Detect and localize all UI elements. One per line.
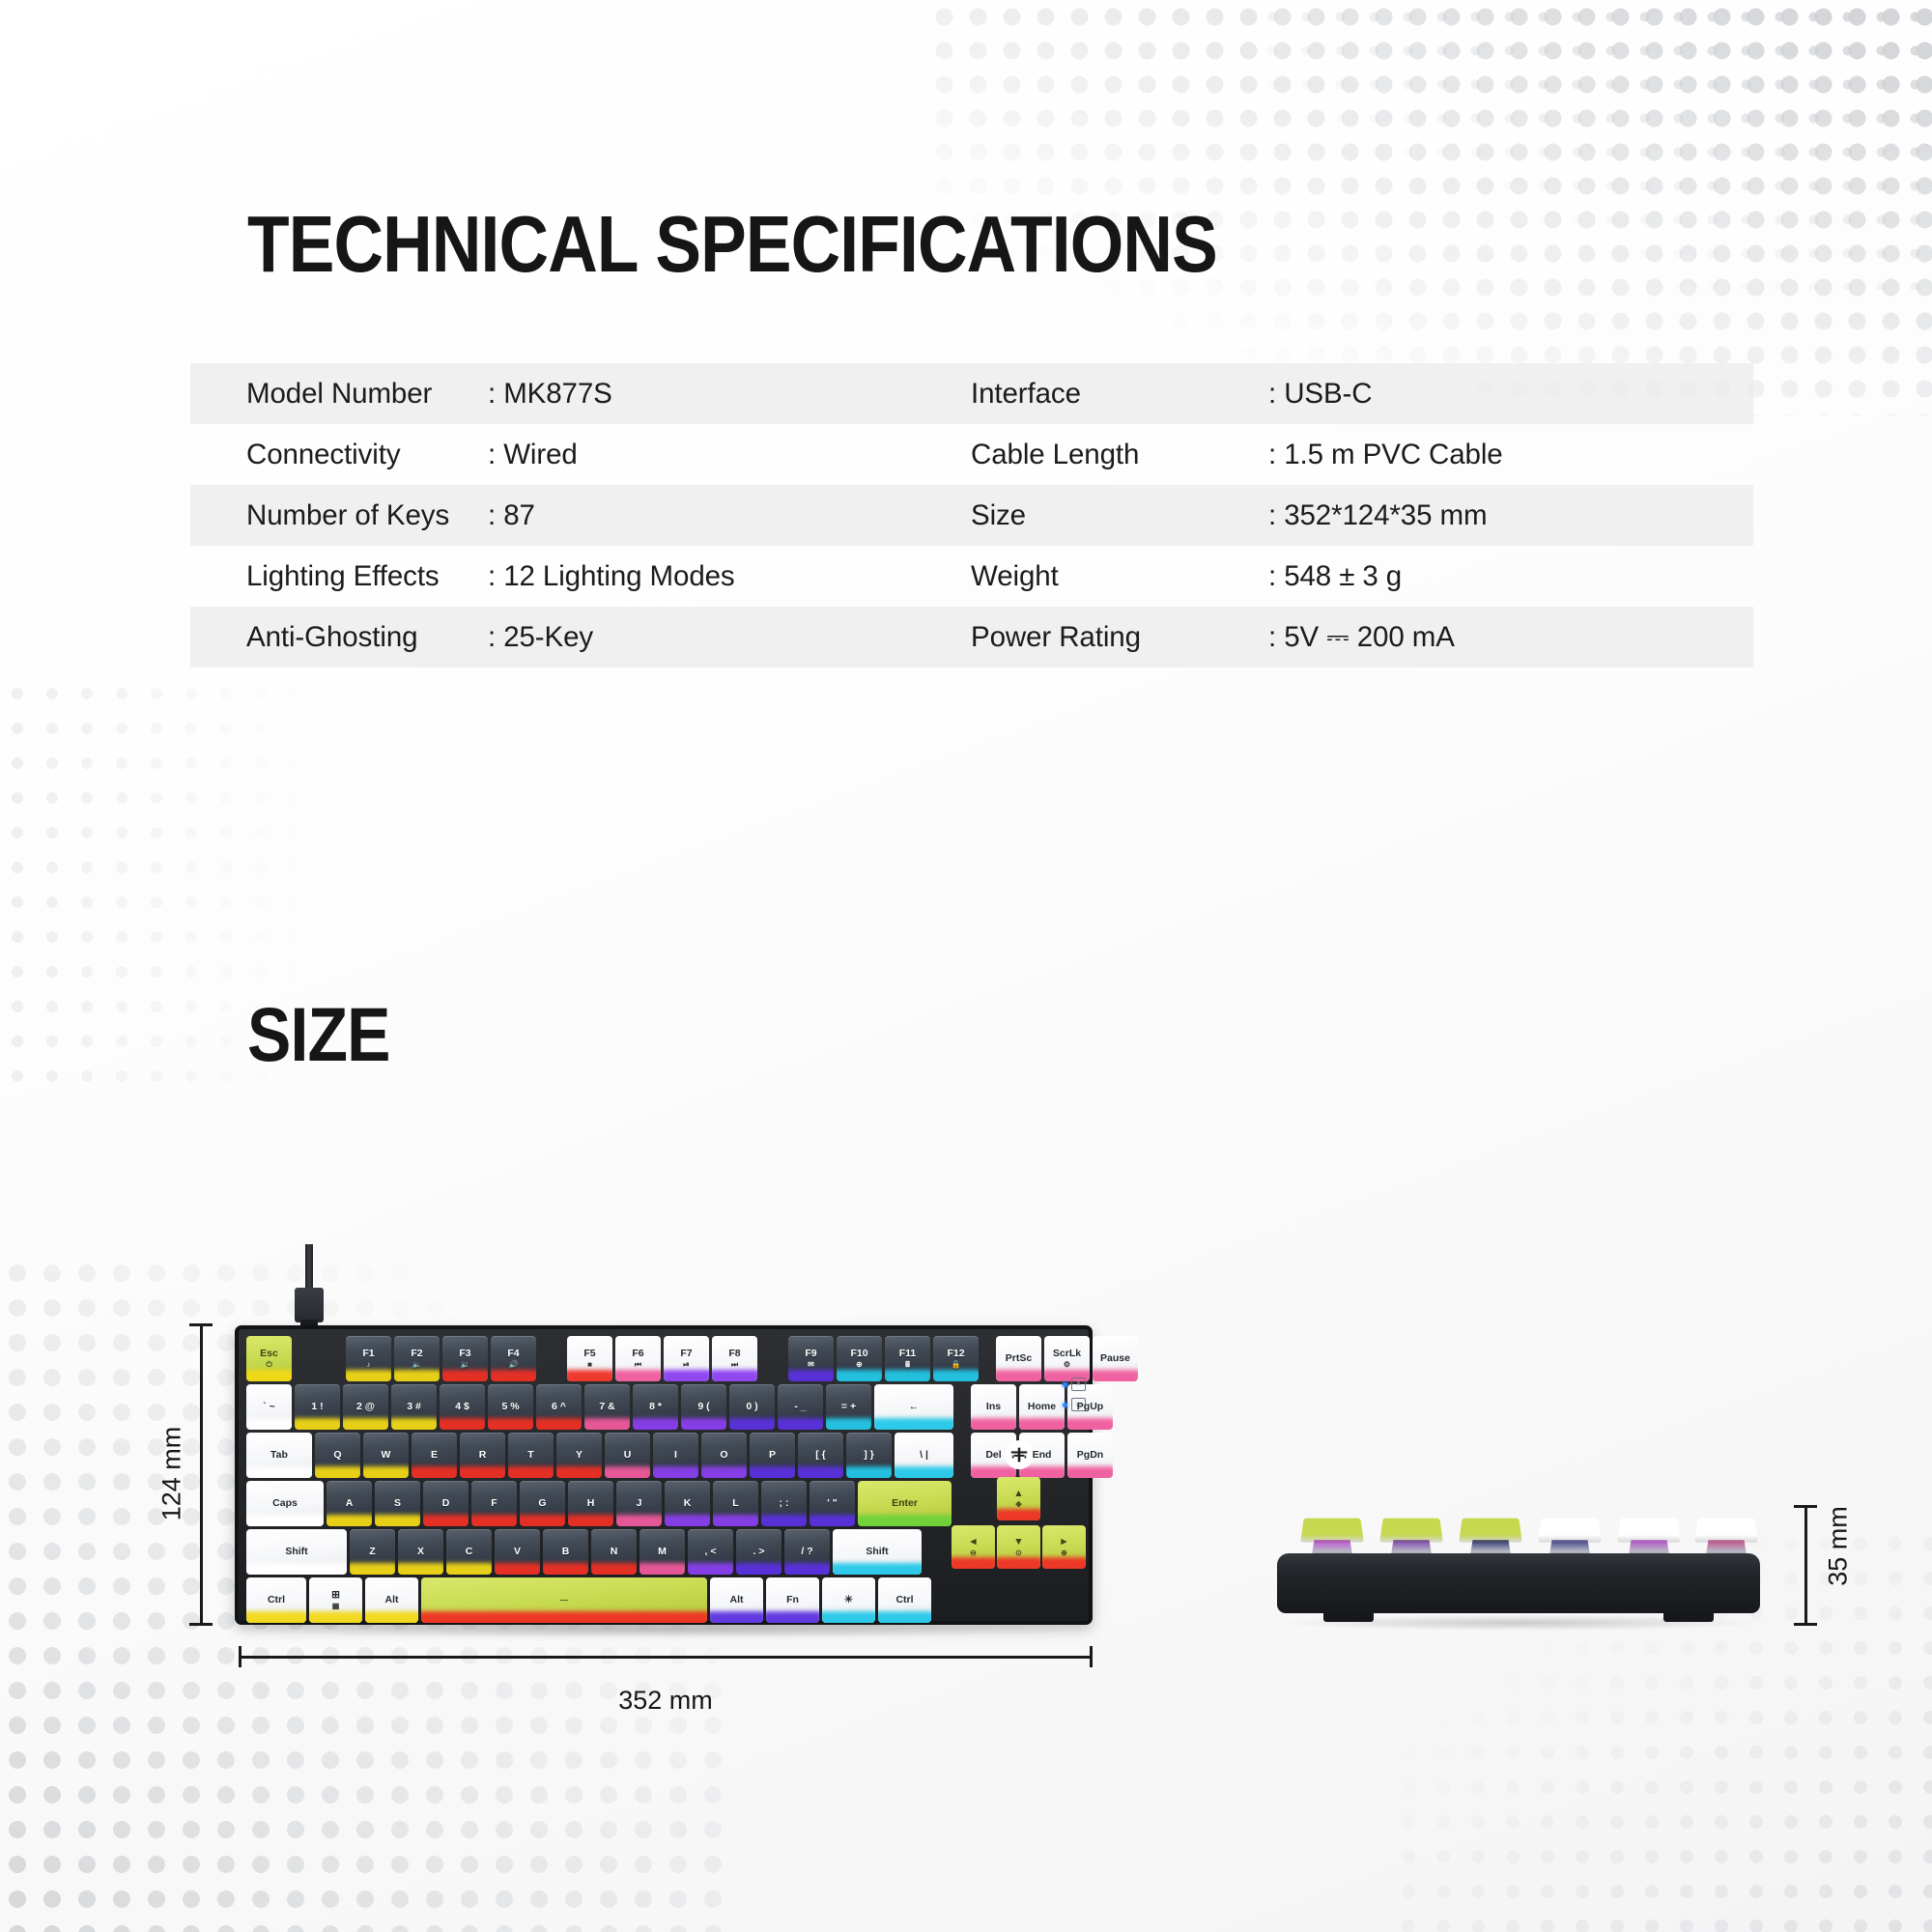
key-rgb-glow — [874, 1418, 953, 1430]
key-rgb-glow — [543, 1563, 588, 1575]
key-rgb-glow — [688, 1563, 733, 1575]
spec-value-left: : 12 Lighting Modes — [488, 560, 971, 593]
key-rgb-glow — [997, 1509, 1040, 1520]
spec-row: Anti-Ghosting: 25-KeyPower Rating: 5V ⎓ … — [190, 607, 1753, 668]
key-f12[interactable]: F12🔒 — [933, 1336, 979, 1381]
key-pause[interactable]: Pause — [1093, 1336, 1138, 1381]
keyboard-row-bottom-row: Ctrl⊞▦Alt—AltFn☀Ctrl — [246, 1577, 1081, 1623]
key-home[interactable]: Home — [1019, 1384, 1065, 1430]
key-legend: F — [491, 1497, 497, 1509]
key-o[interactable]: O — [701, 1433, 747, 1478]
key-primary-legend: Pause — [1100, 1352, 1130, 1364]
key-primary-legend: R — [479, 1449, 487, 1461]
spec-label-right: Cable Length — [971, 439, 1268, 471]
key-primary-legend: V — [514, 1546, 521, 1557]
caps-lock-led-dot — [1063, 1382, 1067, 1387]
key-blank[interactable]: — — [421, 1577, 707, 1623]
key-primary-legend: End — [1033, 1449, 1052, 1461]
key-rgb-glow — [446, 1563, 492, 1575]
key-primary-legend: F9 — [805, 1348, 816, 1359]
key-primary-legend: K — [684, 1497, 692, 1509]
key-f5[interactable]: F5■ — [567, 1336, 612, 1381]
key-rgb-glow — [664, 1370, 709, 1381]
key-legend: F8⏭ — [728, 1348, 740, 1369]
key-primary-legend: 5 % — [501, 1401, 519, 1412]
spec-value-right-text: : 1.5 m PVC Cable — [1268, 439, 1503, 471]
key-primary-legend: W — [382, 1449, 391, 1461]
key-legend: F2🔈 — [411, 1348, 422, 1369]
key-primary-legend: [ { — [815, 1449, 826, 1461]
spec-value-left-text: : MK877S — [488, 378, 612, 411]
key-primary-legend: PrtSc — [1006, 1352, 1032, 1364]
key-legend: Ins — [986, 1401, 1001, 1412]
arrow-key-cluster: ▲✥◄⊖▼⊙►⊕ — [957, 1477, 1081, 1574]
key-secondary-legend: ⊕ — [856, 1360, 863, 1369]
key-rgb-glow — [491, 1370, 536, 1381]
key-legend: End — [1033, 1449, 1052, 1461]
key-g[interactable]: G — [520, 1481, 565, 1526]
key-rgb-glow — [665, 1515, 710, 1526]
key-rgb-glow — [858, 1515, 952, 1526]
key-rgb-glow — [488, 1418, 533, 1430]
key-blank[interactable]: ] } — [846, 1433, 892, 1478]
key-f[interactable]: F — [471, 1481, 517, 1526]
key-rgb-glow — [423, 1515, 469, 1526]
key-shift[interactable]: Shift — [246, 1529, 347, 1575]
spec-label-left: Number of Keys — [190, 499, 488, 532]
key-primary-legend: F1 — [362, 1348, 374, 1359]
key-b[interactable]: B — [543, 1529, 588, 1575]
key-legend: Home — [1028, 1401, 1056, 1412]
key-rgb-glow — [750, 1466, 795, 1478]
key-legend: 1 ! — [311, 1401, 323, 1412]
key-rgb-glow — [246, 1418, 292, 1430]
key-legend: Alt — [730, 1594, 744, 1605]
key-legend: ►⊕ — [1059, 1536, 1068, 1557]
key-rgb-glow — [713, 1515, 758, 1526]
key-primary-legend: ScrLk — [1053, 1348, 1081, 1359]
key-primary-legend: F5 — [583, 1348, 595, 1359]
key-primary-legend: 3 # — [407, 1401, 421, 1412]
key-secondary-legend: 🔈 — [412, 1360, 422, 1369]
key-t[interactable]: T — [508, 1433, 554, 1478]
key-rgb-glow — [246, 1370, 292, 1381]
key-z[interactable]: Z — [350, 1529, 395, 1575]
key-rgb-glow — [394, 1370, 440, 1381]
key-alt[interactable]: Alt — [710, 1577, 763, 1623]
key-4[interactable]: 4 $ — [440, 1384, 485, 1430]
key-blank[interactable]: . > — [736, 1529, 781, 1575]
key-f1[interactable]: F1♪ — [346, 1336, 391, 1381]
key-legend: ☀ — [844, 1594, 853, 1605]
key-rgb-glow — [997, 1557, 1040, 1569]
key-blank[interactable]: ☀ — [822, 1577, 875, 1623]
key-legend: Ctrl — [895, 1594, 913, 1605]
key-legend: Shift — [285, 1546, 307, 1557]
key-rgb-glow — [460, 1466, 505, 1478]
keyboard-logo-arrow-panel: ▲✥◄⊖▼⊙►⊕ — [957, 1435, 1081, 1618]
key-5[interactable]: 5 % — [488, 1384, 533, 1430]
key-legend: R — [479, 1449, 487, 1461]
spec-label-right-text: Interface — [971, 378, 1081, 411]
key-blank[interactable]: / ? — [784, 1529, 830, 1575]
key-6[interactable]: 6 ^ — [536, 1384, 582, 1430]
key-scrlk[interactable]: ScrLk⚙ — [1044, 1336, 1090, 1381]
key-rgb-glow — [633, 1418, 678, 1430]
key-primary-legend: C — [466, 1546, 473, 1557]
key-secondary-legend: ⏭ — [731, 1360, 738, 1369]
spec-value-left: : MK877S — [488, 378, 971, 411]
spec-value-right-text: : 352*124*35 mm — [1268, 499, 1487, 532]
key-rgb-glow — [798, 1466, 843, 1478]
key-rgb-glow — [822, 1611, 875, 1623]
key-rgb-glow — [653, 1466, 698, 1478]
key-secondary-legend: ⊖ — [970, 1548, 977, 1557]
key-primary-legend: F8 — [728, 1348, 740, 1359]
spec-label-right-text: Size — [971, 499, 1026, 532]
key-7[interactable]: 7 & — [584, 1384, 630, 1430]
key-p[interactable]: P — [750, 1433, 795, 1478]
key-e[interactable]: E — [412, 1433, 457, 1478]
key-legend: Fn — [786, 1594, 799, 1605]
spec-label-left-text: Lighting Effects — [246, 560, 440, 593]
key-ctrl[interactable]: Ctrl — [878, 1577, 931, 1623]
key-rgb-glow — [712, 1370, 757, 1381]
key-primary-legend: Alt — [730, 1594, 744, 1605]
spec-label-left-text: Model Number — [246, 378, 432, 411]
key-0[interactable]: 0 ) — [729, 1384, 775, 1430]
key-secondary-legend: ▦ — [332, 1602, 340, 1610]
keyboard-gap — [956, 1384, 968, 1430]
spec-value-right: : USB-C — [1268, 378, 1674, 411]
spec-value-left: : 25-Key — [488, 621, 971, 654]
key-rgb-glow — [246, 1515, 324, 1526]
key-legend: Z — [369, 1546, 375, 1557]
key-legend: F7⏯ — [680, 1348, 692, 1369]
key-f8[interactable]: F8⏭ — [712, 1336, 757, 1381]
key-legend: I — [674, 1449, 677, 1461]
height-dimension-line — [200, 1323, 203, 1625]
key-primary-legend: \ | — [920, 1449, 928, 1461]
key-primary-legend: = + — [841, 1401, 856, 1412]
key-rgb-glow — [315, 1466, 360, 1478]
key-blank[interactable]: ' " — [810, 1481, 855, 1526]
side-view-keycap — [1302, 1517, 1362, 1555]
key-arrow-down[interactable]: ▼⊙ — [997, 1525, 1040, 1569]
spec-label-left: Model Number — [190, 378, 488, 411]
key-h[interactable]: H — [568, 1481, 613, 1526]
key-rgb-glow — [1093, 1370, 1138, 1381]
key-f7[interactable]: F7⏯ — [664, 1336, 709, 1381]
key-c[interactable]: C — [446, 1529, 492, 1575]
key-rgb-glow — [327, 1515, 372, 1526]
key-n[interactable]: N — [591, 1529, 637, 1575]
key-rgb-glow — [788, 1370, 834, 1381]
key-primary-legend: F2 — [411, 1348, 422, 1359]
key-primary-legend: F3 — [459, 1348, 470, 1359]
key-3[interactable]: 3 # — [391, 1384, 437, 1430]
key-blank[interactable]: ⊞▦ — [309, 1577, 362, 1623]
fantech-logo-icon — [1005, 1440, 1034, 1469]
key-j[interactable]: J — [616, 1481, 662, 1526]
key-primary-legend: 1 ! — [311, 1401, 323, 1412]
key-blank[interactable]: - _ — [778, 1384, 823, 1430]
key-primary-legend: - _ — [794, 1401, 806, 1412]
section-title-size: SIZE — [247, 990, 390, 1079]
key-d[interactable]: D — [423, 1481, 469, 1526]
key-legend: [ { — [815, 1449, 826, 1461]
side-view-keycap-top — [1694, 1519, 1758, 1543]
key-m[interactable]: M — [639, 1529, 685, 1575]
spec-row: Model Number: MK877SInterface: USB-C — [190, 363, 1753, 424]
key-tab[interactable]: Tab — [246, 1433, 312, 1478]
page-title-technical-specifications: TECHNICAL SPECIFICATIONS — [247, 198, 1217, 291]
key-rgb-glow — [810, 1515, 855, 1526]
keyboard-row-number-row: ` ~1 !2 @3 #4 $5 %6 ^7 &8 *9 (0 )- _= +←… — [246, 1384, 1081, 1430]
side-view-keycap — [1619, 1517, 1679, 1555]
key-ins[interactable]: Ins — [971, 1384, 1016, 1430]
key-secondary-legend: 🔊 — [509, 1360, 519, 1369]
key-8[interactable]: 8 * — [633, 1384, 678, 1430]
key-primary-legend: ☀ — [844, 1594, 853, 1605]
key-rgb-glow — [837, 1370, 882, 1381]
key-legend: . > — [753, 1546, 765, 1557]
key-primary-legend: A — [346, 1497, 354, 1509]
key-primary-legend: F4 — [507, 1348, 519, 1359]
key-blank[interactable]: [ { — [798, 1433, 843, 1478]
key-blank[interactable]: = + — [826, 1384, 871, 1430]
key-primary-legend: Enter — [892, 1497, 918, 1509]
spec-label-left-text: Connectivity — [246, 439, 400, 471]
spec-value-left-text: : Wired — [488, 439, 578, 471]
key-alt[interactable]: Alt — [365, 1577, 418, 1623]
key-primary-legend: 2 @ — [356, 1401, 375, 1412]
key-primary-legend: 9 ( — [697, 1401, 709, 1412]
key-v[interactable]: V — [495, 1529, 540, 1575]
key-arrow-right[interactable]: ►⊕ — [1042, 1525, 1086, 1569]
key-l[interactable]: L — [713, 1481, 758, 1526]
key-legend: Tab — [270, 1449, 288, 1461]
key-rgb-glow — [736, 1563, 781, 1575]
key-rgb-glow — [568, 1515, 613, 1526]
key-q[interactable]: Q — [315, 1433, 360, 1478]
spec-value-left: : 87 — [488, 499, 971, 532]
key-legend: F5■ — [583, 1348, 595, 1369]
key-rgb-glow — [591, 1563, 637, 1575]
key-f10[interactable]: F10⊕ — [837, 1336, 882, 1381]
key-rgb-glow — [536, 1418, 582, 1430]
key-arrow-up[interactable]: ▲✥ — [997, 1477, 1040, 1520]
key-esc[interactable]: Esc⏻ — [246, 1336, 292, 1381]
key-secondary-legend: ⏮ — [635, 1360, 641, 1369]
key-rgb-glow — [639, 1563, 685, 1575]
key-y[interactable]: Y — [556, 1433, 602, 1478]
spec-label-left: Connectivity — [190, 439, 488, 471]
key-rgb-glow — [605, 1466, 650, 1478]
key-r[interactable]: R — [460, 1433, 505, 1478]
key-primary-legend: J — [637, 1497, 642, 1509]
key-rgb-glow — [246, 1563, 347, 1575]
key-legend: E — [431, 1449, 438, 1461]
key-primary-legend: Q — [333, 1449, 341, 1461]
spec-label-left-text: Number of Keys — [246, 499, 449, 532]
key-rgb-glow — [346, 1370, 391, 1381]
key-i[interactable]: I — [653, 1433, 698, 1478]
height-dimension-cap-bottom — [189, 1623, 213, 1626]
key-2[interactable]: 2 @ — [343, 1384, 388, 1430]
spec-value-right-text: : USB-C — [1268, 378, 1372, 411]
spec-row: Number of Keys: 87Size: 352*124*35 mm — [190, 485, 1753, 546]
keyboard-gap — [539, 1336, 564, 1381]
key-f2[interactable]: F2🔈 — [394, 1336, 440, 1381]
key-a[interactable]: A — [327, 1481, 372, 1526]
key-legend: D — [442, 1497, 450, 1509]
key-primary-legend: G — [538, 1497, 546, 1509]
key-legend: PrtSc — [1006, 1352, 1032, 1364]
key-rgb-glow — [1019, 1418, 1065, 1430]
side-view-keycap-top — [1538, 1519, 1602, 1543]
key-secondary-legend: ⊙ — [1015, 1548, 1022, 1557]
key-arrow-left[interactable]: ◄⊖ — [952, 1525, 995, 1569]
key-primary-legend: PgDn — [1077, 1449, 1103, 1461]
key-legend: = + — [841, 1401, 856, 1412]
key-legend: G — [538, 1497, 546, 1509]
key-primary-legend: O — [720, 1449, 727, 1461]
key-rgb-glow — [471, 1515, 517, 1526]
height-dimension-cap-top — [189, 1323, 213, 1326]
key-legend: T — [527, 1449, 533, 1461]
key-legend: 4 $ — [455, 1401, 469, 1412]
spec-value-right: : 5V ⎓ 200 mA — [1268, 621, 1674, 654]
key-rgb-glow — [520, 1515, 565, 1526]
key-x[interactable]: X — [398, 1529, 443, 1575]
key-primary-legend: Home — [1028, 1401, 1056, 1412]
key-legend: ScrLk⚙ — [1053, 1348, 1081, 1369]
key-legend: O — [720, 1449, 727, 1461]
key-1[interactable]: 1 ! — [295, 1384, 340, 1430]
key-shift[interactable]: Shift — [833, 1529, 922, 1575]
key-rgb-glow — [895, 1466, 953, 1478]
key-primary-legend: , < — [705, 1546, 717, 1557]
key-primary-legend: F6 — [632, 1348, 643, 1359]
key-primary-legend: ▼ — [1013, 1536, 1023, 1548]
key-k[interactable]: K — [665, 1481, 710, 1526]
key-f3[interactable]: F3🔉 — [442, 1336, 488, 1381]
key-legend: ▲✥ — [1013, 1488, 1023, 1509]
key-primary-legend: L — [732, 1497, 738, 1509]
key-rgb-glow — [1042, 1557, 1086, 1569]
key-f6[interactable]: F6⏮ — [615, 1336, 661, 1381]
key-primary-legend: 4 $ — [455, 1401, 469, 1412]
key-rgb-glow — [701, 1466, 747, 1478]
spec-value-right: : 548 ± 3 g — [1268, 560, 1674, 593]
key-caps[interactable]: Caps — [246, 1481, 324, 1526]
key-rgb-glow — [440, 1418, 485, 1430]
key-primary-legend: M — [658, 1546, 667, 1557]
key-rgb-glow — [246, 1466, 312, 1478]
key-blank[interactable]: ; : — [761, 1481, 807, 1526]
depth-dimension-label: 35 mm — [1824, 1493, 1854, 1600]
spec-label-right: Power Rating — [971, 621, 1268, 654]
key-blank[interactable]: ` ~ — [246, 1384, 292, 1430]
key-secondary-legend: ✥ — [1015, 1500, 1022, 1509]
key-legend: 6 ^ — [552, 1401, 566, 1412]
key-primary-legend: Caps — [272, 1497, 298, 1509]
key-f4[interactable]: F4🔊 — [491, 1336, 536, 1381]
key-blank[interactable]: ← — [874, 1384, 953, 1430]
key-fn[interactable]: Fn — [766, 1577, 819, 1623]
key-primary-legend: ] } — [864, 1449, 874, 1461]
key-primary-legend: ' " — [827, 1497, 837, 1509]
key-legend: U — [624, 1449, 632, 1461]
key-ctrl[interactable]: Ctrl — [246, 1577, 306, 1623]
key-u[interactable]: U — [605, 1433, 650, 1478]
height-dimension-label: 124 mm — [157, 1416, 187, 1532]
key-legend: / ? — [801, 1546, 812, 1557]
key-legend: Alt — [385, 1594, 399, 1605]
key-rgb-glow — [350, 1563, 395, 1575]
key-blank[interactable]: , < — [688, 1529, 733, 1575]
key-rgb-glow — [442, 1370, 488, 1381]
key-legend: K — [684, 1497, 692, 1509]
depth-dimension-cap-top — [1794, 1505, 1817, 1508]
keyboard-side-chassis — [1277, 1553, 1760, 1613]
spec-label-right: Weight — [971, 560, 1268, 593]
key-primary-legend: D — [442, 1497, 450, 1509]
side-view-keycap-top — [1459, 1519, 1522, 1543]
key-enter[interactable]: Enter — [858, 1481, 952, 1526]
key-9[interactable]: 9 ( — [681, 1384, 726, 1430]
key-legend: Caps — [272, 1497, 298, 1509]
key-legend: , < — [705, 1546, 717, 1557]
key-rgb-glow — [495, 1563, 540, 1575]
side-view-keycap-top — [1379, 1519, 1443, 1543]
key-rgb-glow — [878, 1611, 931, 1623]
key-s[interactable]: S — [375, 1481, 420, 1526]
usb-c-plug — [295, 1288, 324, 1322]
key-primary-legend: E — [431, 1449, 438, 1461]
key-rgb-glow — [996, 1370, 1041, 1381]
key-rgb-glow — [295, 1418, 340, 1430]
key-f11[interactable]: F11🖩 — [885, 1336, 930, 1381]
side-view-keycap-top — [1300, 1519, 1364, 1543]
keyboard-row-function-row: Esc⏻F1♪F2🔈F3🔉F4🔊F5■F6⏮F7⏯F8⏭F9✉F10⊕F11🖩F… — [246, 1336, 1081, 1381]
key-rgb-glow — [681, 1418, 726, 1430]
key-rgb-glow — [846, 1466, 892, 1478]
key-f9[interactable]: F9✉ — [788, 1336, 834, 1381]
key-rgb-glow — [615, 1370, 661, 1381]
depth-dimension-line — [1804, 1505, 1807, 1625]
width-dimension-cap-right — [1090, 1646, 1093, 1667]
keyboard-gap — [981, 1336, 993, 1381]
key-legend: F6⏮ — [632, 1348, 643, 1369]
key-rgb-glow — [710, 1611, 763, 1623]
key-primary-legend: 0 ) — [746, 1401, 757, 1412]
key-w[interactable]: W — [363, 1433, 409, 1478]
keyboard-row-home-row: CapsASDFGHJKL; :' "Enter — [246, 1481, 1081, 1526]
key-legend: V — [514, 1546, 521, 1557]
key-legend: 5 % — [501, 1401, 519, 1412]
key-secondary-legend: — — [560, 1596, 568, 1605]
key-legend: J — [637, 1497, 642, 1509]
key-rgb-glow — [833, 1563, 922, 1575]
key-prtsc[interactable]: PrtSc — [996, 1336, 1041, 1381]
key-primary-legend: Del — [985, 1449, 1001, 1461]
key-primary-legend: Ctrl — [268, 1594, 285, 1605]
key-rgb-glow — [778, 1418, 823, 1430]
key-blank[interactable]: \ | — [895, 1433, 953, 1478]
key-primary-legend: 6 ^ — [552, 1401, 566, 1412]
